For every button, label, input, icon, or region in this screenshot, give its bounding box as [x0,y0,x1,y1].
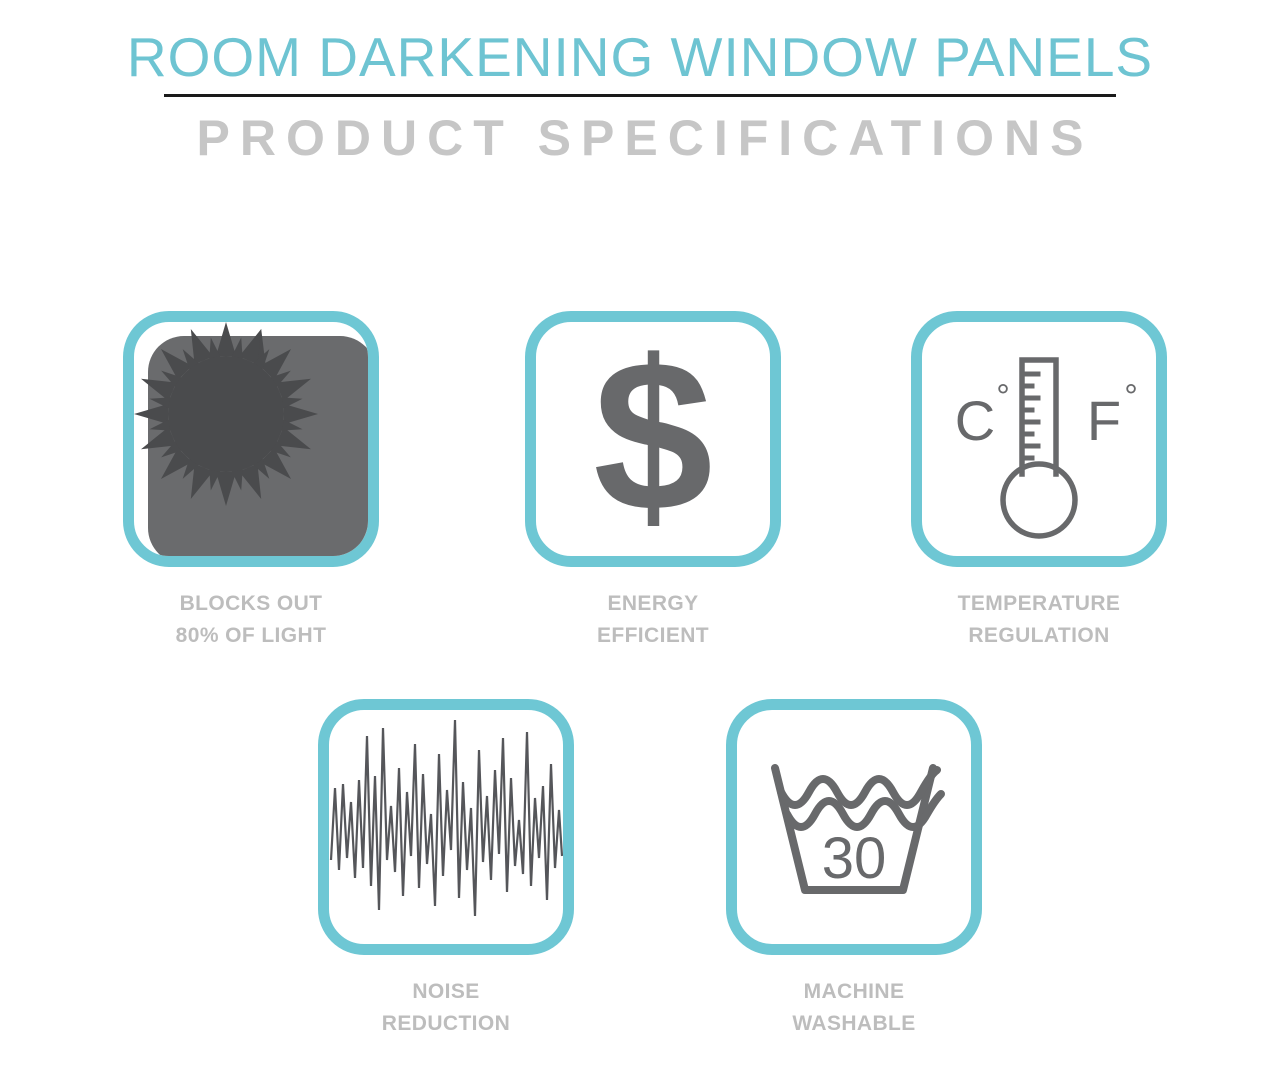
svg-text:$: $ [593,322,713,556]
caption-line-1: NOISE [318,976,574,1008]
sun-blocked-icon [134,322,368,556]
celsius-label: C [955,389,995,452]
fahrenheit-degree-symbol: ° [1124,378,1138,416]
feature-card-machine-washable[interactable]: 30 MACHINE WASHABLE [726,699,982,1040]
celsius-degree-symbol: ° [996,378,1010,416]
feature-card-blocks-light[interactable]: BLOCKS OUT 80% OF LIGHT [123,311,379,652]
feature-caption-noise-reduction: NOISE REDUCTION [318,976,574,1040]
feature-caption-blocks-light: BLOCKS OUT 80% OF LIGHT [123,588,379,652]
caption-line-2: 80% OF LIGHT [123,620,379,652]
caption-line-2: EFFICIENT [525,620,781,652]
feature-caption-temperature: TEMPERATURE REGULATION [911,588,1167,652]
icon-tile-energy-efficient: $ [525,311,781,567]
thermometer-icon: C ° F ° [922,322,1156,556]
sound-wave-icon [329,710,563,944]
icon-tile-noise-reduction [318,699,574,955]
feature-caption-machine-washable: MACHINE WASHABLE [726,976,982,1040]
caption-line-1: TEMPERATURE [911,588,1167,620]
wash-basin-icon: 30 [737,710,971,944]
fahrenheit-label: F [1087,389,1121,452]
caption-line-2: REGULATION [911,620,1167,652]
caption-line-1: MACHINE [726,976,982,1008]
page-subtitle: PRODUCT SPECIFICATIONS [0,110,1280,166]
caption-line-2: REDUCTION [318,1008,574,1040]
icon-tile-blocks-light [123,311,379,567]
wash-temperature-label: 30 [822,826,887,891]
caption-line-2: WASHABLE [726,1008,982,1040]
feature-card-noise-reduction[interactable]: NOISE REDUCTION [318,699,574,1040]
feature-card-temperature[interactable]: C ° F ° TEMPERATURE REGULATION [911,311,1167,652]
caption-line-1: ENERGY [525,588,781,620]
page-title: ROOM DARKENING WINDOW PANELS [0,26,1280,88]
dollar-sign-icon: $ [536,322,770,556]
page-header: ROOM DARKENING WINDOW PANELS PRODUCT SPE… [0,0,1280,166]
feature-caption-energy-efficient: ENERGY EFFICIENT [525,588,781,652]
icon-tile-machine-washable: 30 [726,699,982,955]
icon-tile-temperature: C ° F ° [911,311,1167,567]
caption-line-1: BLOCKS OUT [123,588,379,620]
feature-card-energy-efficient[interactable]: $ ENERGY EFFICIENT [525,311,781,652]
title-divider [164,94,1116,97]
